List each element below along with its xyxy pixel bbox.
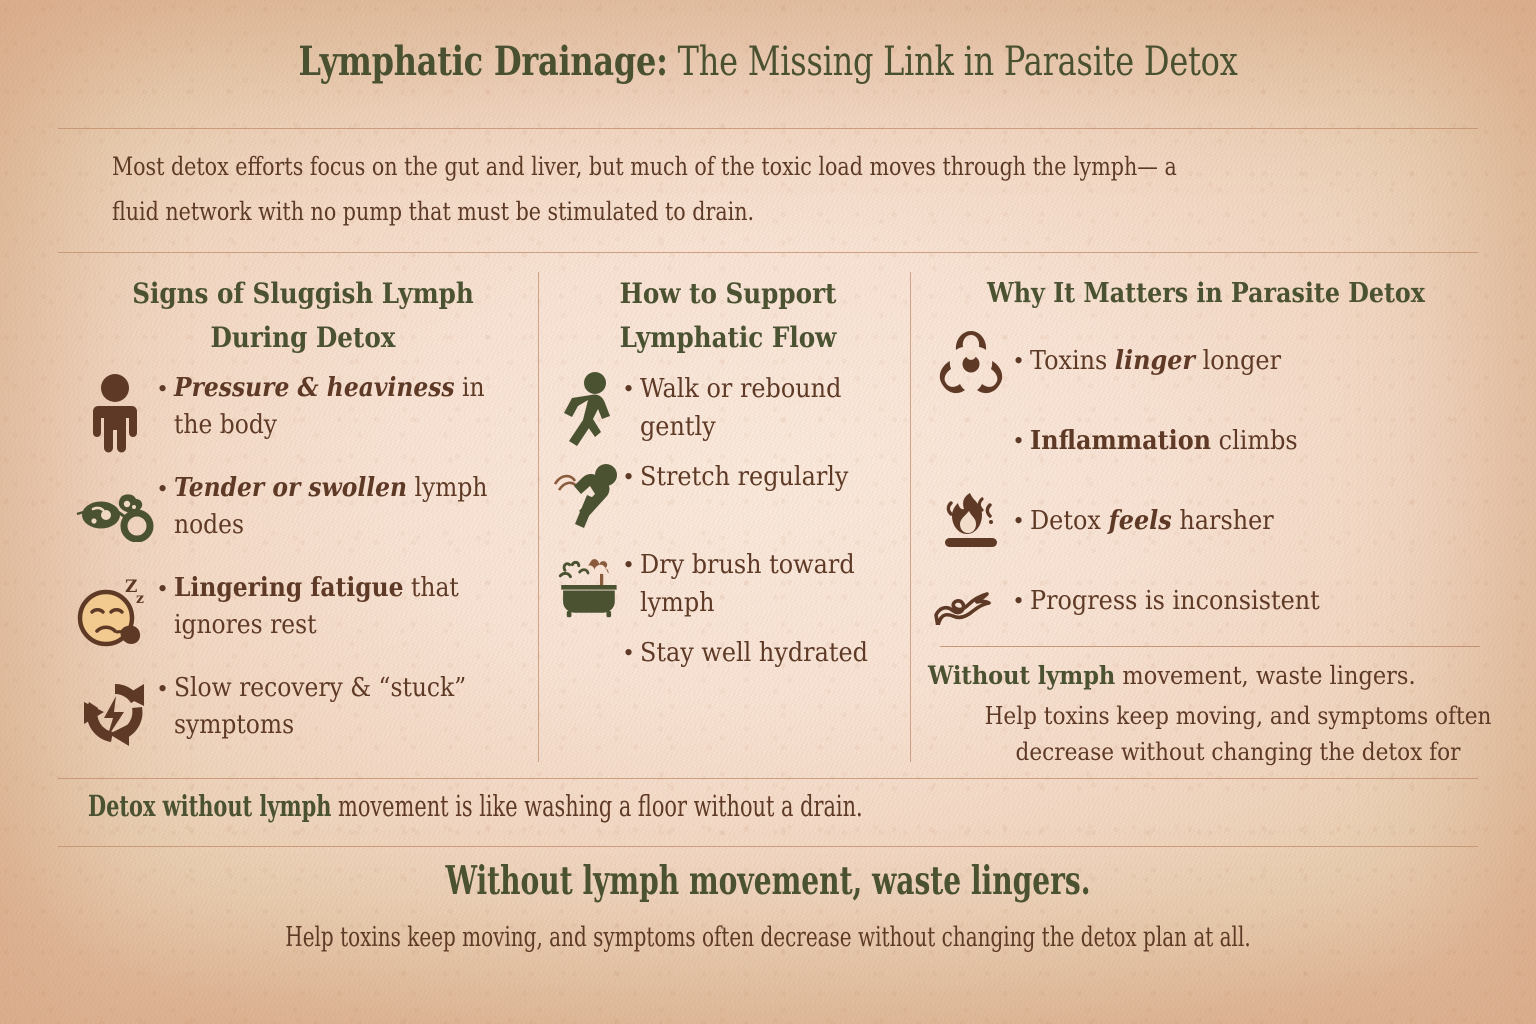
list-item-emphasis: feels	[1109, 506, 1172, 536]
column-divider-1	[538, 272, 539, 762]
no-icon-spacer	[928, 406, 1014, 476]
list-item: • Tender or swollen lymph nodes	[72, 470, 534, 556]
column-heading-why: Why It Matters in Parasite Detox	[961, 272, 1450, 316]
list-item-text: Tender or swollen lymph nodes	[174, 470, 498, 544]
callout-rest: movement, waste lingers.	[1115, 661, 1415, 690]
bullet-glyph: •	[624, 634, 640, 672]
list-item: • Pressure & heaviness in the body	[72, 370, 534, 456]
bullet-glyph: •	[1014, 583, 1030, 619]
lymph-node-icon	[72, 470, 158, 556]
list-item: • Progress is inconsistent	[928, 566, 1484, 636]
list-item: • Toxins linger longer	[928, 326, 1484, 396]
person-body-icon	[72, 370, 158, 456]
no-icon-spacer	[552, 634, 624, 712]
bottom-strip-text: Detox without lymph movement is like was…	[88, 789, 863, 823]
page-title-rest: The Missing Link in Parasite Detox	[668, 39, 1238, 85]
callout-bold: Without lymph	[928, 661, 1115, 690]
intro-paragraph: Most detox efforts focus on the gut and …	[112, 144, 1209, 234]
footer-tagline: Without lymph movement, waste lingers.	[215, 858, 1321, 904]
sleepy-face-icon: Z z	[72, 570, 158, 656]
bullet-glyph: •	[624, 370, 640, 408]
strip-bold: Detox without lymph	[88, 789, 331, 823]
biohazard-icon	[928, 326, 1014, 396]
list-item: • Slow recovery & “stuck” symptoms	[72, 670, 534, 756]
list-item-text: Pressure & heaviness in the body	[174, 370, 498, 444]
list-item-text: Lingering fatigue that ignores rest	[174, 570, 498, 644]
list-item: Z z • Lingering fatigue that ignores res…	[72, 570, 534, 656]
column-signs: Signs of Sluggish Lymph During Detox • P…	[72, 272, 534, 770]
strip-rest: movement is like washing a floor without…	[331, 789, 862, 823]
list-item-text: Detox feels harsher	[1030, 503, 1274, 539]
list-item-lead: Pressure & heaviness	[174, 373, 455, 403]
list-item-text: Inflammation climbs	[1030, 423, 1298, 459]
column-support: How to Support Lymphatic Flow • Walk or …	[552, 272, 904, 722]
list-item-text: Stretch regularly	[640, 458, 870, 496]
list-item-post: longer	[1195, 346, 1281, 376]
bullet-glyph: •	[1014, 343, 1030, 379]
bullet-glyph: •	[158, 370, 174, 407]
list-item: • Stretch regularly	[552, 458, 904, 536]
bullet-glyph: •	[158, 470, 174, 507]
recovery-cycle-icon	[72, 670, 158, 756]
stretching-person-icon	[552, 458, 624, 536]
divider-bottom-2	[58, 846, 1478, 847]
list-item-lead: Tender or swollen	[174, 473, 407, 503]
bullet-glyph: •	[624, 458, 640, 496]
divider-bottom-1	[58, 778, 1478, 779]
bullet-list-why: • Toxins linger longer • Inflammation cl…	[928, 326, 1484, 770]
list-item-pre: Toxins	[1030, 346, 1115, 376]
list-item: • Dry brush toward lymph	[552, 546, 904, 624]
list-item-pre: Detox	[1030, 506, 1108, 536]
worm-icon	[928, 566, 1014, 636]
svg-text:z: z	[136, 591, 144, 607]
infographic-page: Lymphatic Drainage: The Missing Link in …	[0, 0, 1536, 1024]
list-item-text: Toxins linger longer	[1030, 343, 1281, 379]
column-heading-support: How to Support Lymphatic Flow	[573, 272, 883, 360]
list-item: • Inflammation climbs	[928, 406, 1484, 476]
bullet-list-signs: • Pressure & heaviness in the body	[72, 370, 534, 756]
list-item-post: climbs	[1211, 426, 1298, 456]
list-item-text: Dry brush toward lymph	[640, 546, 870, 622]
footer-subtext: Help toxins keep moving, and symptoms of…	[200, 922, 1337, 953]
bullet-glyph: •	[1014, 423, 1030, 459]
list-item-pre: Inflammation	[1030, 426, 1211, 456]
column-why-divider	[940, 646, 1480, 647]
column-divider-2	[910, 272, 911, 762]
bullet-glyph: •	[624, 546, 640, 584]
list-item-emphasis: linger	[1115, 346, 1195, 376]
list-item-lead: Lingering fatigue	[174, 573, 404, 603]
list-item: • Detox feels harsher	[928, 486, 1484, 556]
bathtub-icon	[552, 546, 624, 624]
list-item-text: Stay well hydrated	[640, 634, 870, 672]
list-item: • Walk or rebound gently	[552, 370, 904, 448]
bullet-glyph: •	[158, 670, 174, 707]
column-why-callout-sub: Help toxins keep moving, and symptoms of…	[959, 698, 1517, 770]
bullet-list-support: • Walk or rebound gently • S	[552, 370, 904, 712]
list-item-text: Progress is inconsistent	[1030, 583, 1320, 619]
page-title-bold: Lymphatic Drainage:	[298, 38, 667, 85]
list-item-text: Walk or rebound gently	[640, 370, 870, 446]
column-why: Why It Matters in Parasite Detox • Toxin	[928, 272, 1484, 770]
divider-mid	[58, 252, 1478, 253]
divider-top	[58, 128, 1478, 129]
walking-person-icon	[552, 370, 624, 448]
column-heading-signs: Signs of Sluggish Lymph During Detox	[100, 272, 507, 360]
list-item: • Stay well hydrated	[552, 634, 904, 712]
campfire-icon	[928, 486, 1014, 556]
list-item-post: harsher	[1172, 506, 1274, 536]
column-why-callout: Without lymph movement, waste lingers.	[928, 661, 1428, 690]
page-title: Lymphatic Drainage: The Missing Link in …	[154, 38, 1383, 85]
bullet-glyph: •	[158, 570, 174, 607]
list-item-text: Slow recovery & “stuck” symptoms	[174, 670, 498, 744]
bullet-glyph: •	[1014, 503, 1030, 539]
